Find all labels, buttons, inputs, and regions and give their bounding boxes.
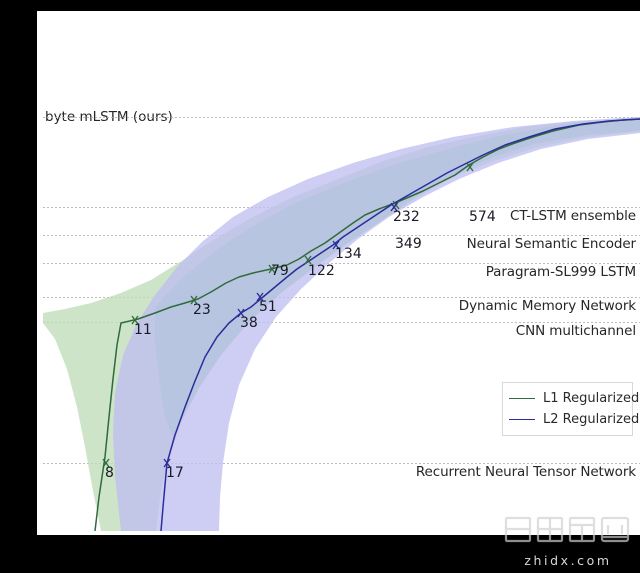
legend-label-l2: L2 Regularized [543,412,639,427]
point-label-574: 574 [469,210,496,224]
row-label-recurrent-neural-tensor-network: Recurrent Neural Tensor Network [416,466,636,480]
point-label-134: 134 [335,247,362,261]
point-label-17: 17 [166,466,184,480]
legend-swatch-l1-line [509,398,535,399]
legend-item-l1-regularized[interactable]: L1 Regularized [509,388,625,409]
point-label-122: 122 [308,264,335,278]
point-label-232: 232 [393,210,420,224]
point-label-51: 51 [259,300,277,314]
row-label-dynamic-memory-network: Dynamic Memory Network [459,300,636,314]
point-label-23: 23 [193,303,211,317]
figure-canvas: byte mLSTM (ours) [37,11,640,535]
watermark-site-text: zhidx.com [502,553,634,568]
row-label-neural-semantic-encoder: Neural Semantic Encoder [467,238,636,252]
chart-legend: L1 Regularized L2 Regularized [502,382,633,436]
point-label-38: 38 [240,316,258,330]
point-label-11: 11 [134,323,152,337]
row-label-paragram-sl999-lstm: Paragram-SL999 LSTM [486,266,636,280]
legend-label-l1: L1 Regularized [543,391,639,406]
screenshot-root: byte mLSTM (ours) [0,0,640,573]
row-label-cnn-multichannel: CNN multichannel [516,325,636,339]
legend-swatch-l2-line [509,419,535,420]
point-label-79: 79 [271,264,289,278]
point-label-8: 8 [105,466,114,480]
row-label-ct-lstm-ensemble: CT-LSTM ensemble [510,210,636,224]
legend-item-l2-regularized[interactable]: L2 Regularized [509,409,625,430]
point-label-349: 349 [395,237,422,251]
